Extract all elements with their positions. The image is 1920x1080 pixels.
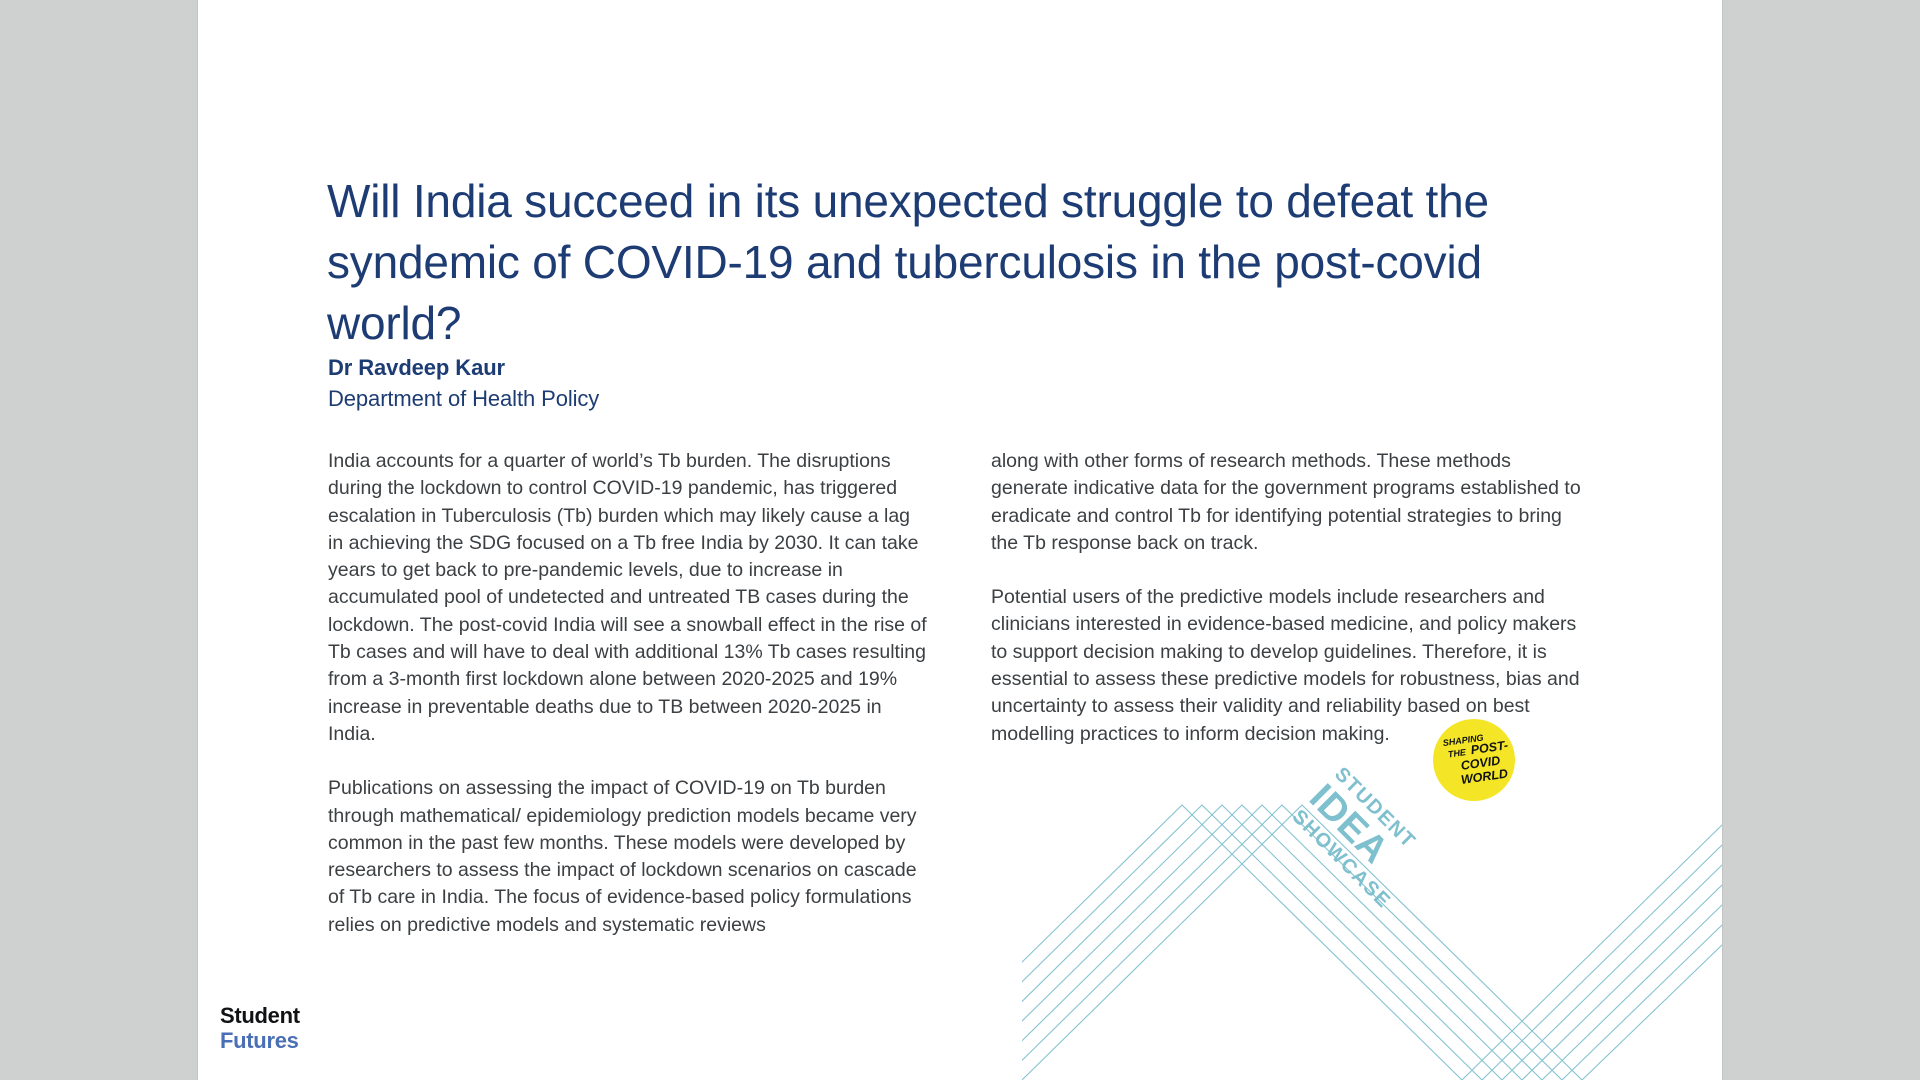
page-title: Will India succeed in its unexpected str… <box>327 171 1557 354</box>
chevron-decoration-graphic <box>1022 750 1722 1080</box>
student-futures-logo: Student Futures <box>220 1003 300 1053</box>
student-futures-line1: Student <box>220 1003 300 1028</box>
slide-canvas: Will India succeed in its unexpected str… <box>0 0 1920 1080</box>
showcase-word-student: STUDENT <box>1330 763 1420 853</box>
author-department: Department of Health Policy <box>328 383 1028 415</box>
paragraph: India accounts for a quarter of world’s … <box>328 448 928 748</box>
badge-line5: WORLD <box>1460 766 1509 786</box>
author-name: Dr Ravdeep Kaur <box>328 353 1028 383</box>
showcase-word-showcase: SHOWCASE <box>1288 806 1395 913</box>
paragraph: Potential users of the predictive models… <box>991 584 1591 748</box>
document-page: Will India succeed in its unexpected str… <box>198 0 1722 1080</box>
badge-line4: COVID <box>1460 753 1501 772</box>
student-futures-line2: Futures <box>220 1028 300 1053</box>
badge-line2: THE <box>1447 747 1467 760</box>
showcase-word-idea: IDEA <box>1301 777 1396 872</box>
body-column-left: India accounts for a quarter of world’s … <box>328 448 928 939</box>
author-block: Dr Ravdeep Kaur Department of Health Pol… <box>328 353 1028 415</box>
paragraph: along with other forms of research metho… <box>991 448 1591 557</box>
paragraph: Publications on assessing the impact of … <box>328 775 928 939</box>
body-column-right: along with other forms of research metho… <box>991 448 1591 748</box>
